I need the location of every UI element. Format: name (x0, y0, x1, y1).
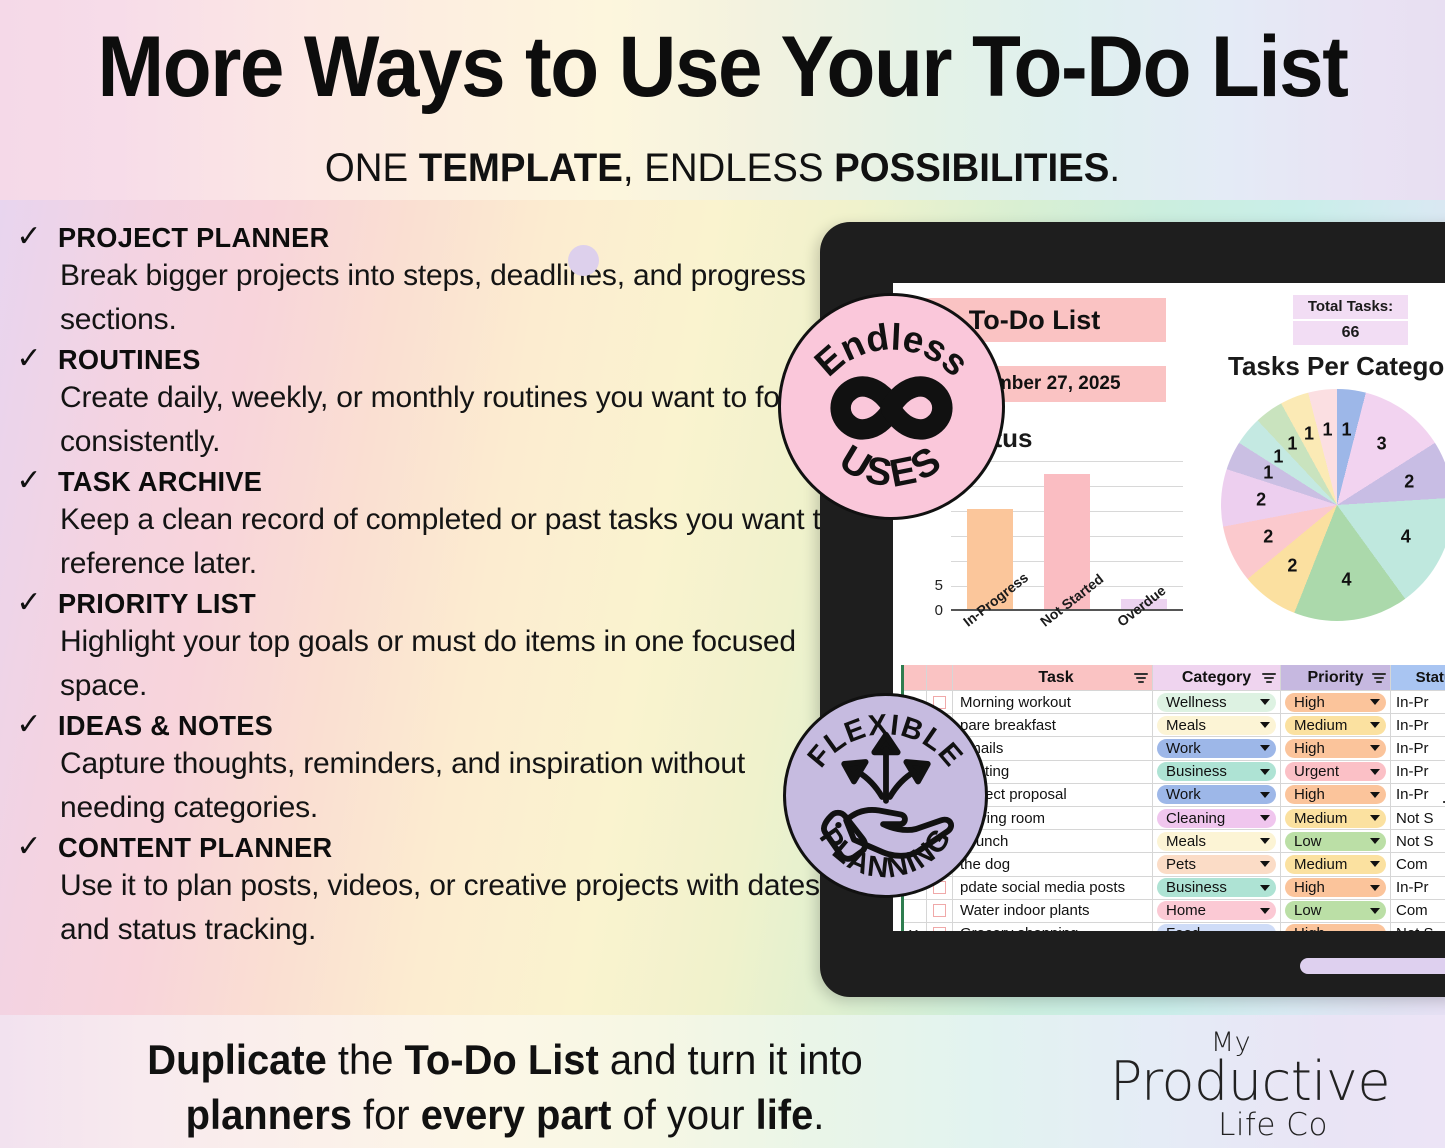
cell-rownum: 11 (901, 923, 927, 931)
feature-heading: ✓TASK ARCHIVE (14, 466, 844, 498)
checkmark-icon: ✓ (14, 588, 44, 618)
chevron-down-icon[interactable] (1370, 722, 1380, 728)
category-dropdown[interactable]: Home (1157, 901, 1276, 920)
cell-priority[interactable]: Medium (1281, 714, 1391, 736)
cell-status[interactable]: Com (1391, 900, 1445, 922)
table-row[interactable]: 11Grocery shoppingFoodHighNot S (901, 923, 1445, 931)
feature-heading: ✓ROUTINES (14, 344, 844, 376)
category-dropdown[interactable]: Pets (1157, 855, 1276, 874)
chevron-down-icon[interactable] (1260, 699, 1270, 705)
cell-category[interactable]: Home (1153, 900, 1281, 922)
cell-status[interactable]: In-Pr (1391, 714, 1445, 736)
page-title: More Ways to Use Your To-Do List (51, 24, 1395, 110)
chevron-down-icon[interactable] (1370, 908, 1380, 914)
checkmark-icon: ✓ (14, 222, 44, 252)
footer-l2-p1: planners (186, 1091, 352, 1138)
checkmark-icon: ✓ (14, 832, 44, 862)
cell-status[interactable]: In-Pr (1391, 737, 1445, 759)
category-dropdown[interactable]: Business (1157, 878, 1276, 897)
cell-priority[interactable]: Medium (1281, 807, 1391, 829)
total-tasks-value: 66 (1293, 321, 1408, 345)
chevron-down-icon[interactable] (1260, 838, 1270, 844)
cell-task[interactable]: Grocery shopping (953, 923, 1153, 931)
cell-status[interactable]: Not S (1391, 923, 1445, 931)
priority-dropdown[interactable]: Medium (1285, 809, 1386, 828)
logo-line-3: Life Co (1126, 1109, 1420, 1142)
feature-title: TASK ARCHIVE (58, 466, 262, 498)
feature-heading: ✓PRIORITY LIST (14, 588, 844, 620)
cell-priority[interactable]: High (1281, 923, 1391, 931)
chevron-down-icon[interactable] (1260, 815, 1270, 821)
feature-list: ✓PROJECT PLANNERBreak bigger projects in… (14, 222, 844, 954)
feature-item: ✓PRIORITY LISTHighlight your top goals o… (14, 588, 844, 707)
pie-data-label: 1 (1304, 424, 1314, 445)
subtitle-part-1: ONE (325, 146, 419, 190)
cell-status[interactable]: In-Pr (1391, 784, 1445, 806)
cell-priority[interactable]: High (1281, 784, 1391, 806)
pie-data-label: 1 (1287, 433, 1297, 454)
pie-data-label: 1 (1322, 419, 1332, 440)
chevron-down-icon[interactable] (1260, 885, 1270, 891)
footer-l1-p1: Duplicate (147, 1036, 327, 1083)
svg-text:USES: USES (832, 437, 950, 496)
priority-dropdown[interactable]: High (1285, 878, 1386, 897)
pie-data-label: 4 (1401, 527, 1411, 548)
priority-dropdown[interactable]: High (1285, 739, 1386, 758)
cell-status[interactable]: Com (1391, 853, 1445, 875)
cell-category[interactable]: Business (1153, 877, 1281, 899)
footer-l2-p5: life (756, 1091, 814, 1138)
cell-priority[interactable]: Low (1281, 830, 1391, 852)
chevron-down-icon[interactable] (1260, 769, 1270, 775)
cell-category[interactable]: Meals (1153, 830, 1281, 852)
feature-description: Break bigger projects into steps, deadli… (60, 254, 844, 341)
category-dropdown[interactable]: Meals (1157, 832, 1276, 851)
page-subtitle: ONE TEMPLATE, ENDLESS POSSIBILITIES. (29, 148, 1416, 188)
svg-text:Endless: Endless (807, 316, 977, 384)
feature-heading: ✓CONTENT PLANNER (14, 832, 844, 864)
poster-canvas: More Ways to Use Your To-Do List ONE TEM… (0, 0, 1445, 1148)
feature-item: ✓TASK ARCHIVEKeep a clean record of comp… (14, 466, 844, 585)
col-header-rownum (901, 665, 927, 690)
table-header-row: TaskCategoryPriorityStatus (901, 665, 1445, 691)
feature-item: ✓ROUTINESCreate daily, weekly, or monthl… (14, 344, 844, 463)
footer-l1-p4: and turn it into (599, 1036, 863, 1083)
tablet-home-indicator (1300, 958, 1445, 974)
pie-data-label: 2 (1404, 471, 1414, 492)
category-dropdown[interactable]: Business (1157, 762, 1276, 781)
footer-l2-p2: for (352, 1091, 421, 1138)
flexible-planning-badge: FLEXIBLE PLANNING (783, 693, 988, 898)
chevron-down-icon[interactable] (1260, 908, 1270, 914)
task-checkbox[interactable] (933, 904, 946, 917)
footer-tagline: Duplicate the To-Do List and turn it int… (25, 1032, 985, 1143)
cell-priority[interactable]: Low (1281, 900, 1391, 922)
col-header-category[interactable]: Category (1153, 665, 1281, 690)
chevron-down-icon[interactable] (1260, 745, 1270, 751)
priority-dropdown[interactable]: Urgent (1285, 762, 1386, 781)
filter-icon[interactable] (1372, 673, 1386, 683)
category-dropdown[interactable]: Meals (1157, 716, 1276, 735)
priority-dropdown[interactable]: Low (1285, 832, 1386, 851)
chevron-down-icon[interactable] (1370, 769, 1380, 775)
pie-data-label: 1 (1273, 446, 1283, 467)
cell-status[interactable]: Not S (1391, 807, 1445, 829)
chevron-down-icon[interactable] (1370, 885, 1380, 891)
priority-dropdown[interactable]: Medium (1285, 716, 1386, 735)
feature-title: IDEAS & NOTES (58, 710, 273, 742)
priority-dropdown[interactable]: Low (1285, 901, 1386, 920)
footer-l2-p6: . (813, 1091, 824, 1138)
pie-data-label: 4 (1342, 570, 1352, 591)
footer-line-1: Duplicate the To-Do List and turn it int… (25, 1032, 985, 1087)
col-header-status[interactable]: Status (1391, 665, 1445, 690)
tablet-camera-icon (568, 245, 599, 276)
chevron-down-icon[interactable] (1370, 861, 1380, 867)
cell-priority[interactable]: High (1281, 877, 1391, 899)
col-header-task[interactable]: Task (953, 665, 1153, 690)
checkmark-icon: ✓ (14, 466, 44, 496)
chevron-down-icon[interactable] (1370, 699, 1380, 705)
cell-category[interactable]: Pets (1153, 853, 1281, 875)
footer-line-2: planners for every part of your life. (25, 1087, 985, 1142)
brand-logo: My Productive Life Co (1080, 1030, 1420, 1141)
cell-category[interactable]: Meals (1153, 714, 1281, 736)
cell-status[interactable]: Not S (1391, 830, 1445, 852)
category-dropdown[interactable]: Wellness (1157, 693, 1276, 712)
checkmark-icon: ✓ (14, 344, 44, 374)
endless-uses-badge: Endless USES (778, 293, 1005, 520)
col-header-checkbox (927, 665, 953, 690)
chevron-down-icon[interactable] (1370, 745, 1380, 751)
category-dropdown[interactable]: Cleaning (1157, 809, 1276, 828)
priority-dropdown[interactable]: High (1285, 785, 1386, 804)
pie-data-label: 2 (1287, 556, 1297, 577)
subtitle-part-3: , ENDLESS (623, 146, 834, 190)
logo-line-2: Productive (1080, 1056, 1420, 1109)
priority-dropdown[interactable]: High (1285, 693, 1386, 712)
feature-description: Highlight your top goals or must do item… (60, 620, 844, 707)
pie-chart-title: Tasks Per Category (1228, 351, 1445, 382)
footer-l1-p3: To-Do List (404, 1036, 598, 1083)
chevron-down-icon[interactable] (1260, 861, 1270, 867)
tasks-per-category-pie-chart: 1324422211111 (1221, 389, 1445, 621)
cell-priority[interactable]: Medium (1281, 853, 1391, 875)
cell-priority[interactable]: Urgent (1281, 761, 1391, 783)
feature-title: PROJECT PLANNER (58, 222, 329, 254)
y-axis-tick: 5 (913, 577, 943, 594)
category-dropdown[interactable]: Work (1157, 785, 1276, 804)
task-checkbox[interactable] (933, 927, 946, 931)
chevron-down-icon[interactable] (1370, 815, 1380, 821)
infinity-icon (841, 386, 943, 429)
total-tasks-box: Total Tasks: 66 (1293, 295, 1408, 345)
feature-description: Create daily, weekly, or monthly routine… (60, 376, 844, 463)
pie-data-label: 1 (1342, 419, 1352, 440)
cell-status[interactable]: In-Pr (1391, 877, 1445, 899)
feature-heading: ✓IDEAS & NOTES (14, 710, 844, 742)
feature-description: Use it to plan posts, videos, or creativ… (60, 864, 844, 951)
feature-item: ✓CONTENT PLANNERUse it to plan posts, vi… (14, 832, 844, 951)
feature-title: ROUTINES (58, 344, 201, 376)
pie-data-label: 3 (1377, 433, 1387, 454)
filter-icon[interactable] (1262, 673, 1276, 683)
cell-category[interactable]: Cleaning (1153, 807, 1281, 829)
cell-category[interactable]: Food (1153, 923, 1281, 931)
chevron-down-icon[interactable] (1260, 792, 1270, 798)
chevron-down-icon[interactable] (1370, 792, 1380, 798)
footer-l2-p3: every part (421, 1091, 612, 1138)
pie-data-label: 1 (1263, 462, 1273, 483)
table-row[interactable]: Water indoor plantsHomeLowCom (901, 900, 1445, 923)
cell-checkbox[interactable] (927, 900, 953, 922)
priority-dropdown[interactable]: Medium (1285, 855, 1386, 874)
cell-status[interactable]: In-Pr (1391, 691, 1445, 713)
chevron-down-icon[interactable] (1370, 838, 1380, 844)
cell-task[interactable]: Water indoor plants (953, 900, 1153, 922)
cell-category[interactable]: Work (1153, 737, 1281, 759)
cell-rownum (901, 900, 927, 922)
subtitle-part-5: . (1109, 146, 1120, 190)
chevron-down-icon[interactable] (1260, 722, 1270, 728)
feature-item: ✓PROJECT PLANNERBreak bigger projects in… (14, 222, 844, 341)
pie-data-label: 2 (1263, 527, 1273, 548)
footer-l1-p2: the (327, 1036, 405, 1083)
footer-l2-p4: of your (611, 1091, 755, 1138)
cell-category[interactable]: Work (1153, 784, 1281, 806)
y-axis-tick: 0 (913, 602, 943, 619)
feature-item: ✓IDEAS & NOTESCapture thoughts, reminder… (14, 710, 844, 829)
cell-priority[interactable]: High (1281, 691, 1391, 713)
checkmark-icon: ✓ (14, 710, 44, 740)
flexible-badge-graphics: FLEXIBLE PLANNING (786, 696, 985, 895)
endless-badge-graphics: Endless USES (781, 296, 1002, 517)
x-axis-labels: In-ProgressNot StartedOverdue (951, 613, 1183, 653)
category-dropdown[interactable]: Work (1157, 739, 1276, 758)
cell-category[interactable]: Business (1153, 761, 1281, 783)
subtitle-part-2: TEMPLATE (419, 146, 623, 190)
pie-data-label: 2 (1256, 490, 1266, 511)
subtitle-part-4: POSSIBILITIES (834, 146, 1109, 190)
feature-description: Keep a clean record of completed or past… (60, 498, 844, 585)
priority-dropdown[interactable]: High (1285, 924, 1386, 931)
cell-priority[interactable]: High (1281, 737, 1391, 759)
feature-heading: ✓PROJECT PLANNER (14, 222, 844, 254)
col-header-priority[interactable]: Priority (1281, 665, 1391, 690)
cell-status[interactable]: In-Pr (1391, 761, 1445, 783)
feature-title: PRIORITY LIST (58, 588, 256, 620)
feature-description: Capture thoughts, reminders, and inspira… (60, 742, 844, 829)
feature-title: CONTENT PLANNER (58, 832, 332, 864)
total-tasks-label: Total Tasks: (1293, 295, 1408, 319)
cell-category[interactable]: Wellness (1153, 691, 1281, 713)
cell-checkbox[interactable] (927, 923, 953, 931)
filter-icon[interactable] (1134, 673, 1148, 683)
category-dropdown[interactable]: Food (1157, 924, 1276, 931)
